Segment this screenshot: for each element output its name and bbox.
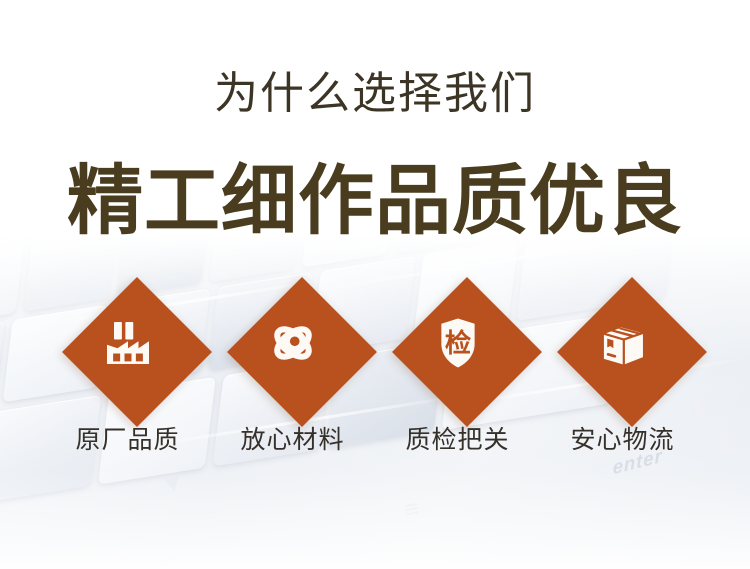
feature-label: 放心材料 [240, 424, 344, 456]
diamond-badge [53, 268, 203, 418]
shield-inspection-icon: 检 [430, 315, 486, 371]
feature-list: 原厂品质 放心材料 [0, 268, 750, 498]
feature-label: 原厂品质 [75, 424, 179, 456]
atom-icon [265, 315, 321, 371]
diamond-badge: 检 [383, 268, 533, 418]
package-box-icon [595, 315, 651, 371]
diamond-badge [548, 268, 698, 418]
feature-label: 质检把关 [405, 424, 509, 456]
diamond-badge [218, 268, 368, 418]
feature-item-logistics: 安心物流 [540, 268, 705, 456]
feature-item-inspection: 检 质检把关 [375, 268, 540, 456]
feature-label: 安心物流 [570, 424, 674, 456]
keyboard-lines-glyph: ≡ [403, 495, 422, 525]
feature-item-factory: 原厂品质 [45, 268, 210, 456]
banner-headline: 精工细作品质优良 [0, 158, 750, 246]
banner-subtitle: 为什么选择我们 [0, 68, 750, 120]
shield-glyph: 检 [444, 328, 471, 358]
feature-item-material: 放心材料 [210, 268, 375, 456]
promo-banner: enter ▼ ≡ 为什么选择我们 精工细作品质优良 [0, 0, 750, 569]
factory-icon [100, 315, 156, 371]
